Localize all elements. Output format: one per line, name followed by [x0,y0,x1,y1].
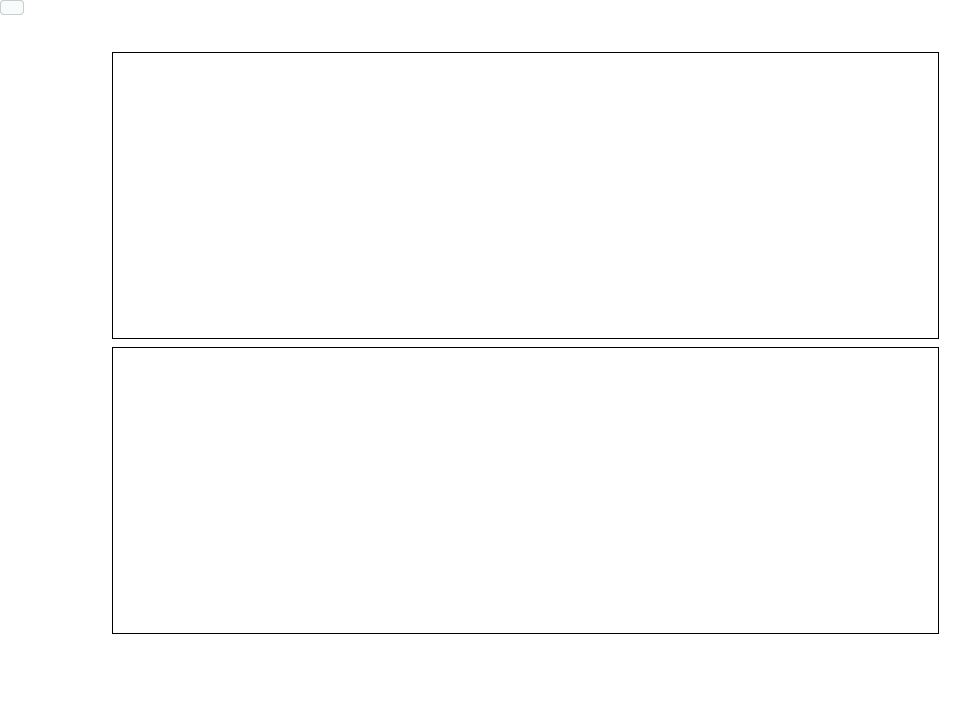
figure-canvas [0,0,960,720]
ratio-axes [112,52,939,339]
count-plot-area [113,348,938,633]
count-legend [0,0,24,15]
ratio-plot-area [113,53,938,338]
count-axes [112,347,939,634]
